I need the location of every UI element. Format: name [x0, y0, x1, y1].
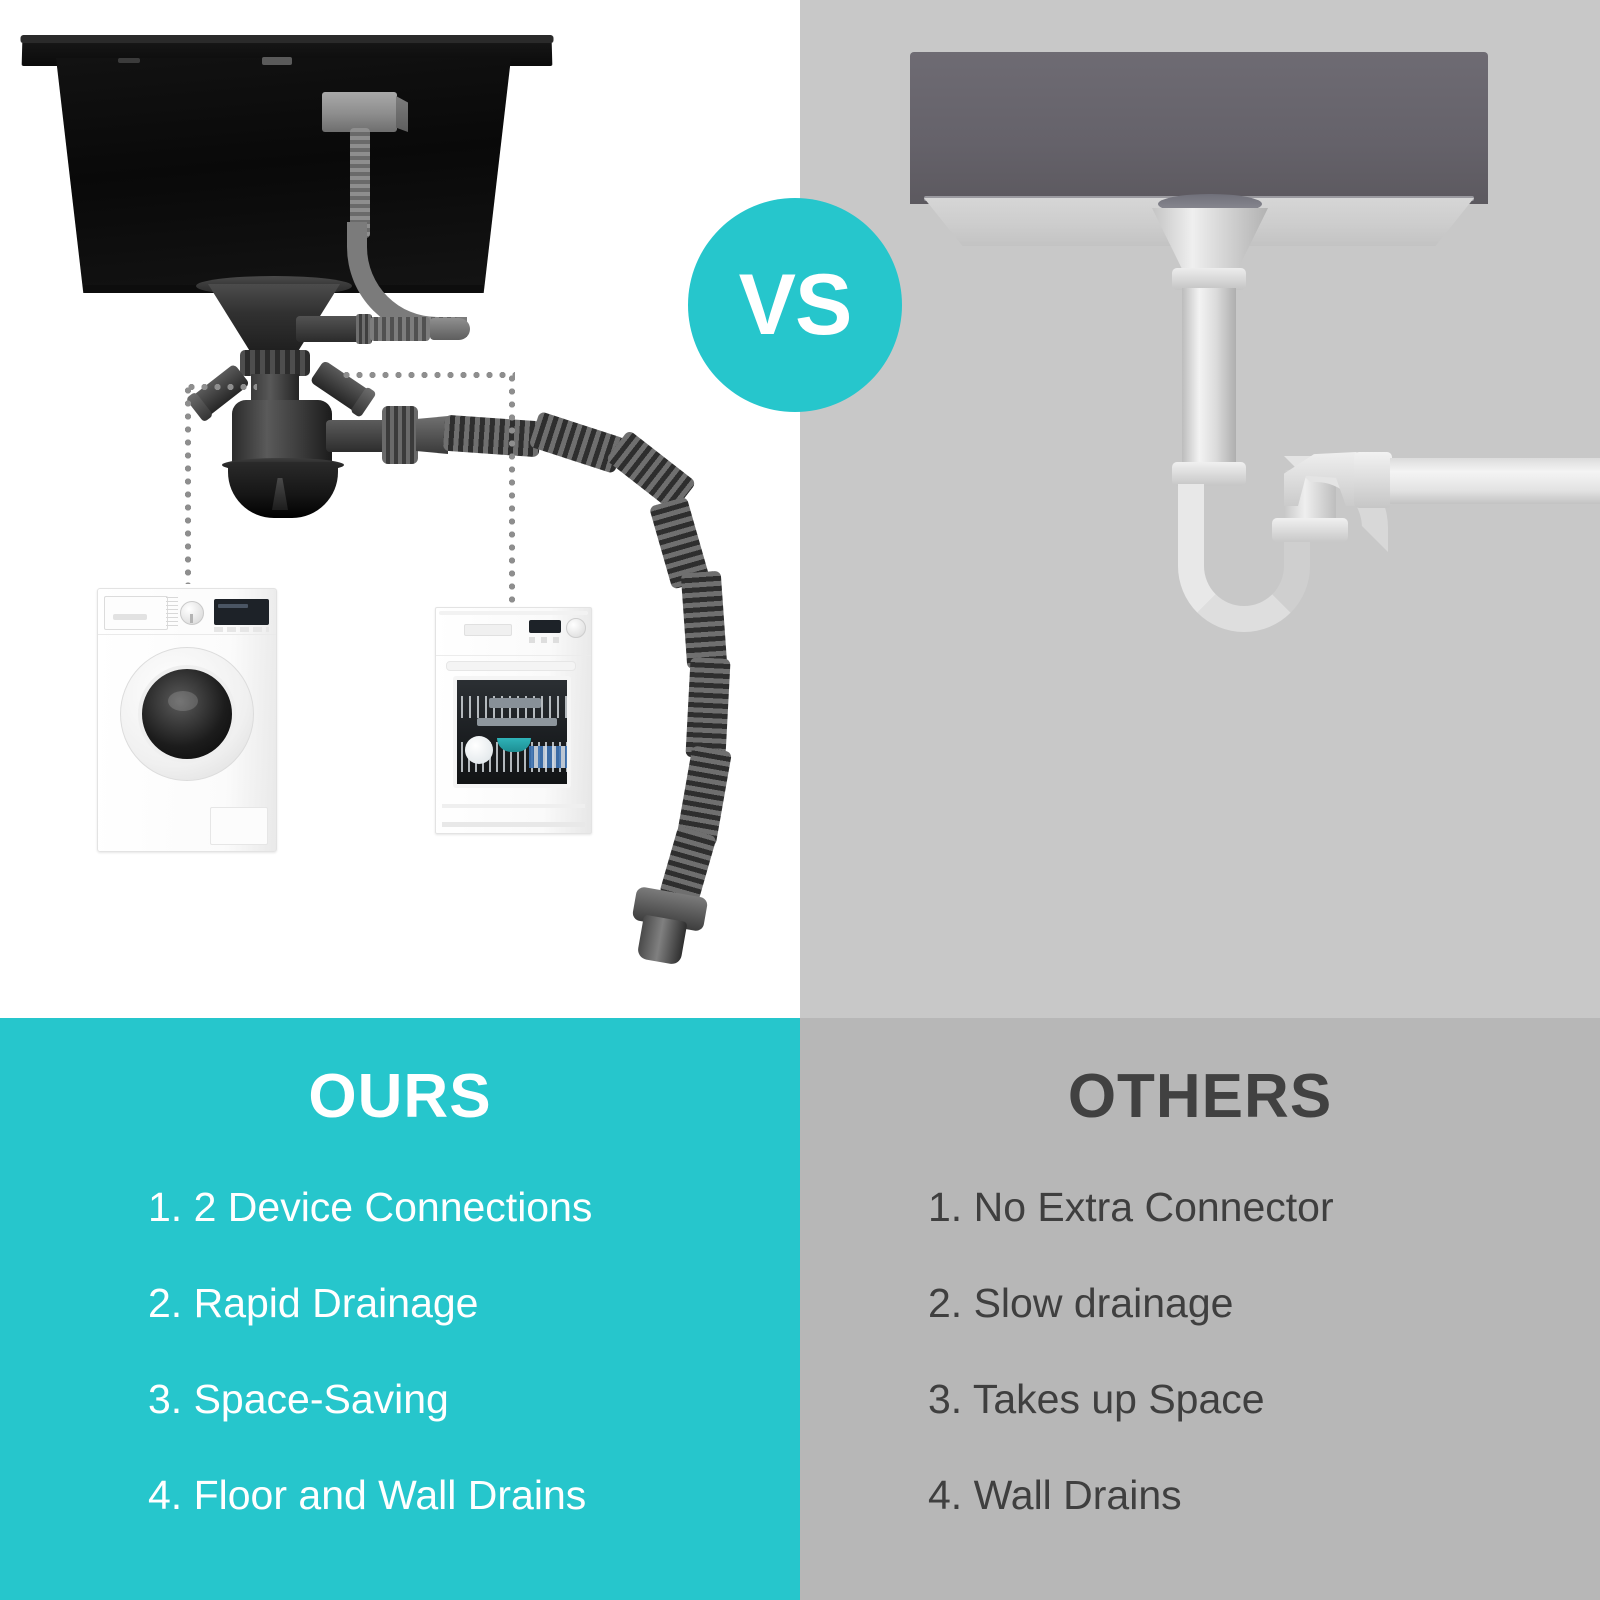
others-feature-item: 1. No Extra Connector	[928, 1186, 1600, 1229]
connector-outlet-stub	[326, 420, 388, 452]
dotted-line-top-right	[340, 372, 515, 378]
comparison-graphic: VS OURS 1. 2 Device Connections 2. Rapid…	[0, 0, 1600, 1600]
ours-title: OURS	[0, 1066, 800, 1128]
dishwasher-upper-rack	[461, 696, 569, 718]
washing-machine-door	[120, 647, 254, 781]
ours-feature-list: 1. 2 Device Connections 2. Rapid Drainag…	[0, 1186, 800, 1570]
overflow-outlet-box	[322, 92, 397, 132]
wall-drain-pipe	[1390, 458, 1600, 504]
dishwasher-base-trim	[442, 804, 585, 808]
strainer-lock-nut	[240, 350, 310, 376]
dishwasher-top-trim	[439, 611, 588, 615]
overflow-hose-tip	[430, 318, 470, 340]
washing-machine-drum-glass	[138, 665, 236, 763]
drain-funnel	[1152, 208, 1268, 274]
vs-badge: VS	[688, 198, 902, 412]
overflow-inlet-corrugation	[370, 317, 430, 341]
dishwasher-handle	[464, 624, 512, 636]
dishwasher-cutlery-tray	[477, 718, 557, 726]
others-feature-item: 4. Wall Drains	[928, 1474, 1600, 1517]
drain-hose-end-tip	[637, 915, 688, 966]
washing-machine-display	[214, 599, 269, 625]
washing-machine-buttons	[214, 627, 269, 632]
dishwasher-display	[529, 620, 561, 633]
ours-feature-item: 4. Floor and Wall Drains	[148, 1474, 800, 1517]
dishwasher-plate	[465, 736, 493, 764]
vs-label: VS	[739, 262, 852, 348]
program-tick-marks-icon	[166, 597, 178, 627]
sink-mounting-clip-right	[262, 57, 292, 65]
ours-text-panel: OURS 1. 2 Device Connections 2. Rapid Dr…	[0, 1018, 800, 1600]
others-text-panel: OTHERS 1. No Extra Connector 2. Slow dra…	[800, 1018, 1600, 1600]
washing-machine-filter-hatch	[210, 807, 268, 845]
drain-hose-seg-5	[681, 571, 728, 670]
wall-pipe-nut	[1354, 452, 1392, 508]
detergent-drawer	[104, 596, 168, 630]
ours-feature-item: 2. Rapid Drainage	[148, 1282, 800, 1325]
others-feature-item: 2. Slow drainage	[928, 1282, 1600, 1325]
ours-feature-item: 3. Space-Saving	[148, 1378, 800, 1421]
dishwasher-dial-knob	[566, 618, 586, 638]
program-dial-knob	[180, 601, 204, 625]
dishwasher-plinth	[442, 822, 585, 827]
tailpiece-nut-lower	[1172, 462, 1246, 486]
dishwasher-cups	[529, 746, 569, 768]
dishwasher-buttons	[529, 637, 563, 643]
dishwasher	[435, 607, 592, 834]
gray-sink-body	[910, 52, 1488, 204]
drain-hose-seg-1	[443, 415, 541, 458]
ours-feature-item: 1. 2 Device Connections	[148, 1186, 800, 1229]
dotted-line-down-to-washing-machine	[185, 384, 191, 584]
dotted-line-top-left	[185, 384, 257, 390]
others-title: OTHERS	[800, 1066, 1600, 1128]
dotted-line-down-to-dishwasher	[509, 372, 515, 607]
tailpiece-nut-upper	[1172, 268, 1246, 290]
washing-machine	[97, 588, 277, 852]
tailpiece-pipe	[1182, 288, 1236, 474]
others-feature-list: 1. No Extra Connector 2. Slow drainage 3…	[800, 1186, 1600, 1570]
ours-illustration-panel	[0, 0, 800, 1018]
others-illustration-panel	[800, 0, 1600, 1018]
others-feature-item: 3. Takes up Space	[928, 1378, 1600, 1421]
dishwasher-door-shelf	[446, 661, 576, 671]
sink-mounting-clip-left	[118, 58, 140, 63]
drain-hose-seg-6	[685, 657, 730, 759]
dishwasher-interior	[453, 676, 571, 788]
connector-outlet-nut	[382, 406, 418, 464]
